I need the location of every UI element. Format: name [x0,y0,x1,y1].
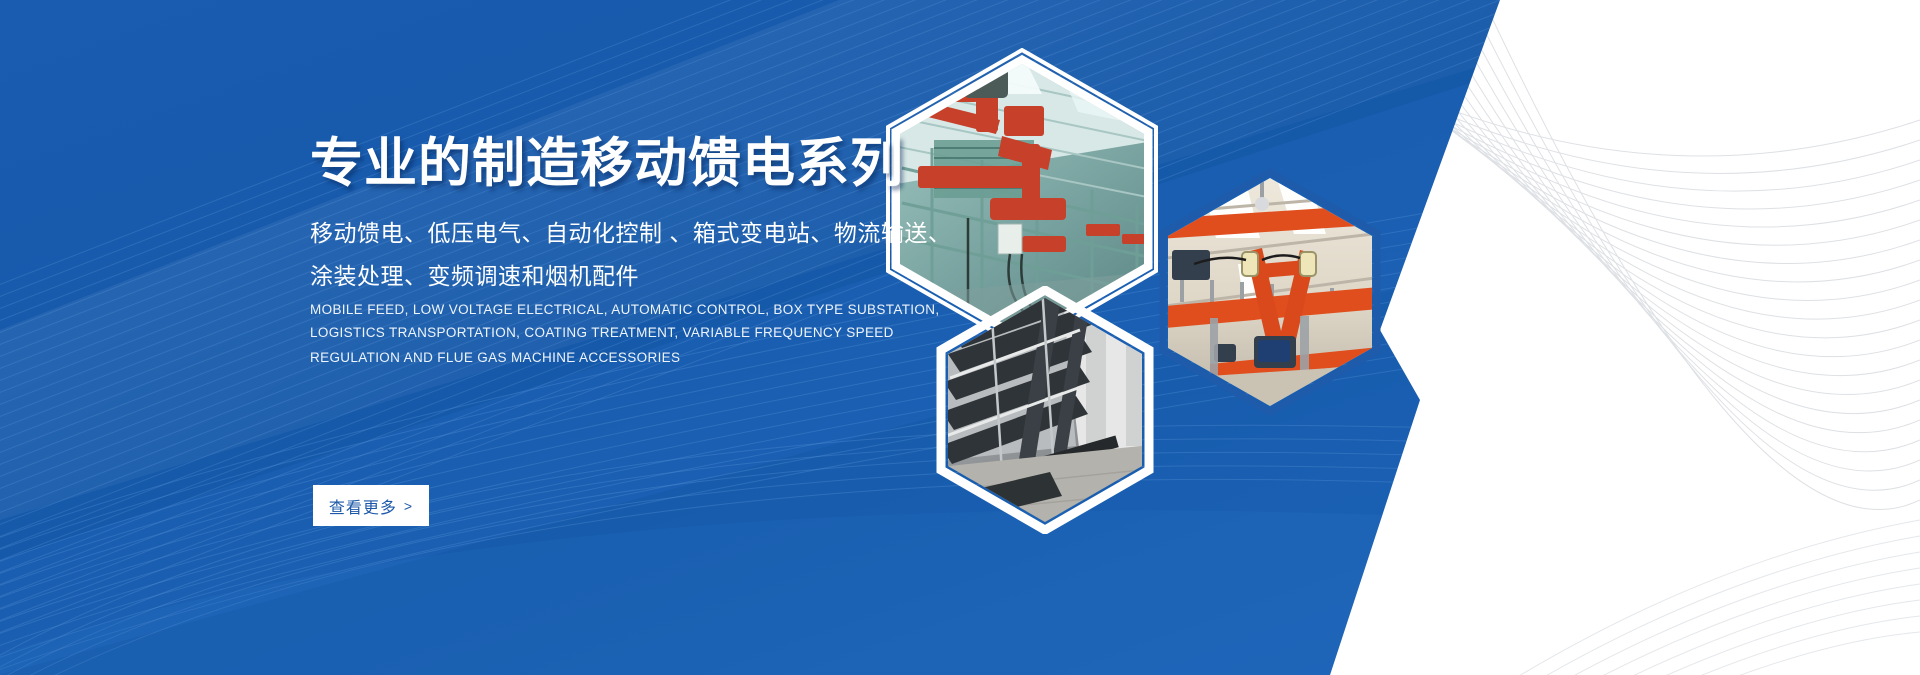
subtitle-en-line-2: LOGISTICS TRANSPORTATION, COATING TREATM… [310,320,894,346]
hero-text-block: 专业的制造移动馈电系列 移动馈电、低压电气、自动化控制 、箱式变电站、物流输送、… [310,0,930,675]
hexagon-image-overhead-crane[interactable] [1150,168,1390,416]
page-title: 专业的制造移动馈电系列 [310,134,904,194]
view-more-button[interactable]: 查看更多 > [313,485,429,526]
hero-banner: 专业的制造移动馈电系列 移动馈电、低压电气、自动化控制 、箱式变电站、物流输送、… [0,0,1920,675]
chevron-right-icon: > [404,498,413,514]
subtitle-cn-line-1: 移动馈电、低压电气、自动化控制 、箱式变电站、物流输送、 [310,212,951,254]
subtitle-cn-line-2: 涂装处理、变频调速和烟机配件 [310,255,639,297]
subtitle-en-line-3: REGULATION AND FLUE GAS MACHINE ACCESSOR… [310,345,680,371]
hexagon-image-cable-tray[interactable] [930,286,1160,534]
view-more-label: 查看更多 [329,494,397,518]
